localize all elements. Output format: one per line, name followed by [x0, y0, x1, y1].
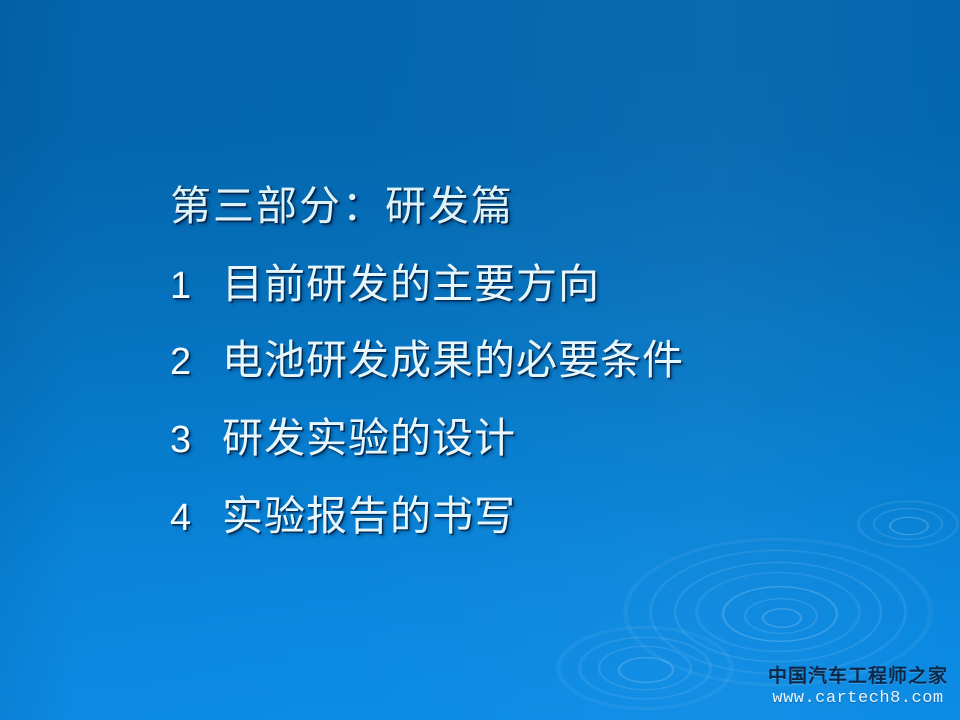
- list-item-4: 4 实验报告的书写: [170, 482, 516, 542]
- list-item-label: 电池研发成果的必要条件: [222, 326, 684, 386]
- list-item-1: 1 目前研发的主要方向: [170, 250, 600, 310]
- list-item-label: 研发实验的设计: [222, 404, 516, 464]
- page-title: 第三部分：研发篇: [170, 172, 514, 232]
- presentation-slide: 第三部分：研发篇 1 目前研发的主要方向 2 电池研发成果的必要条件 3 研发实…: [0, 0, 960, 720]
- list-item-number: 4: [170, 497, 194, 540]
- list-item-label: 实验报告的书写: [222, 482, 516, 542]
- list-item-3: 3 研发实验的设计: [170, 404, 516, 464]
- list-item-number: 2: [170, 341, 194, 384]
- list-item-number: 3: [170, 419, 194, 462]
- list-item-2: 2 电池研发成果的必要条件: [170, 326, 684, 386]
- slide-content: 第三部分：研发篇 1 目前研发的主要方向 2 电池研发成果的必要条件 3 研发实…: [0, 0, 960, 720]
- list-item-number: 1: [170, 265, 194, 308]
- list-item-label: 目前研发的主要方向: [222, 250, 600, 310]
